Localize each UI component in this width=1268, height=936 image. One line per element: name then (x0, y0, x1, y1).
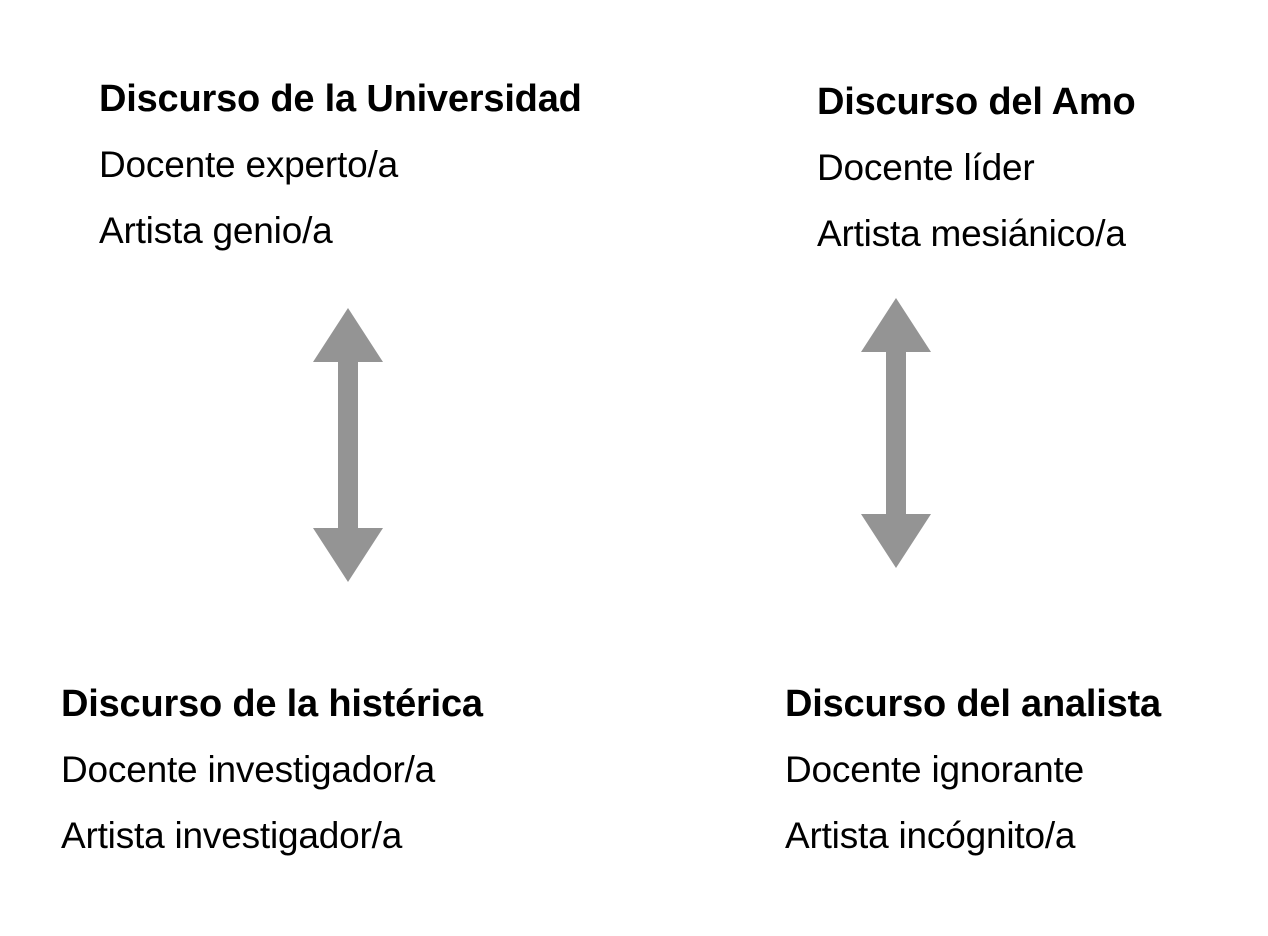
quadrant-universidad-line-1: Docente experto/a (99, 132, 582, 198)
quadrant-analista-heading: Discurso del analista (785, 671, 1161, 737)
double-arrow-left-shape (313, 308, 383, 582)
quadrant-universidad-heading: Discurso de la Universidad (99, 66, 582, 132)
diagram-canvas: Discurso de la Universidad Docente exper… (0, 0, 1268, 936)
quadrant-amo: Discurso del Amo Docente líder Artista m… (817, 69, 1135, 267)
quadrant-amo-heading: Discurso del Amo (817, 69, 1135, 135)
quadrant-amo-line-1: Docente líder (817, 135, 1135, 201)
double-arrow-right-shape (861, 298, 931, 568)
quadrant-analista-line-2: Artista incógnito/a (785, 803, 1161, 869)
quadrant-amo-line-2: Artista mesiánico/a (817, 201, 1135, 267)
quadrant-analista-line-1: Docente ignorante (785, 737, 1161, 803)
quadrant-histerica-line-1: Docente investigador/a (61, 737, 483, 803)
double-arrow-right-icon (853, 296, 939, 570)
quadrant-histerica-line-2: Artista investigador/a (61, 803, 483, 869)
quadrant-universidad-line-2: Artista genio/a (99, 198, 582, 264)
quadrant-analista: Discurso del analista Docente ignorante … (785, 671, 1161, 869)
quadrant-histerica-heading: Discurso de la histérica (61, 671, 483, 737)
quadrant-universidad: Discurso de la Universidad Docente exper… (99, 66, 582, 264)
double-arrow-left-icon (305, 306, 391, 584)
quadrant-histerica: Discurso de la histérica Docente investi… (61, 671, 483, 869)
